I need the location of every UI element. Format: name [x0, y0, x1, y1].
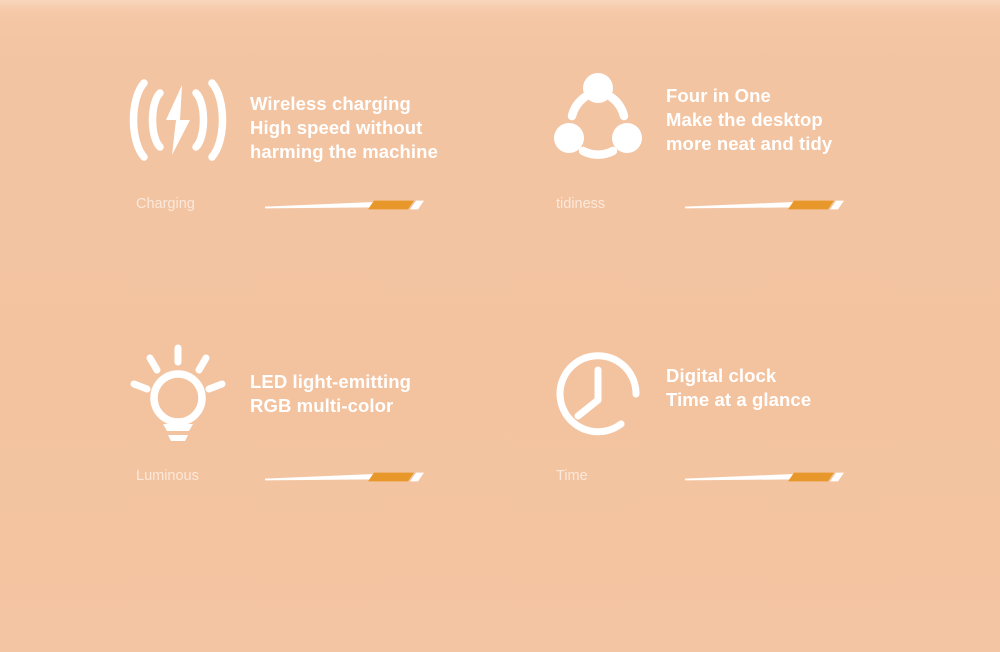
headline-group: Four in One Make the desktop more neat a… — [666, 84, 946, 156]
meter-row: Charging — [136, 192, 528, 218]
headline-line: RGB multi-color — [250, 394, 530, 418]
headline-group: Digital clock Time at a glance — [666, 364, 946, 412]
headline-group: LED light-emitting RGB multi-color — [250, 370, 530, 418]
meter-label: Charging — [136, 194, 195, 214]
meter-row: tidiness — [556, 192, 948, 218]
light-bulb-icon — [128, 344, 228, 444]
feature-card-digital-clock: Digital clock Time at a glance Time — [548, 342, 948, 532]
wireless-charging-icon — [128, 70, 228, 170]
progress-meter — [262, 464, 424, 488]
headline-line: Make the desktop — [666, 108, 946, 132]
four-in-one-share-icon — [548, 68, 648, 168]
meter-row: Luminous — [136, 464, 528, 490]
meter-label: Time — [556, 466, 588, 486]
progress-meter — [262, 192, 424, 216]
feature-panel: Wireless charging High speed without har… — [0, 0, 1000, 652]
headline-line: Wireless charging — [250, 92, 530, 116]
headline-line: Digital clock — [666, 364, 946, 388]
headline-group: Wireless charging High speed without har… — [250, 92, 530, 164]
feature-card-led-light: LED light-emitting RGB multi-color Lumin… — [128, 342, 528, 532]
headline-line: High speed without — [250, 116, 530, 140]
meter-label: tidiness — [556, 194, 605, 214]
progress-meter — [682, 464, 844, 488]
meter-label: Luminous — [136, 466, 199, 486]
headline-line: LED light-emitting — [250, 370, 530, 394]
progress-meter — [682, 192, 844, 216]
headline-line: Four in One — [666, 84, 946, 108]
headline-line: Time at a glance — [666, 388, 946, 412]
clock-icon — [548, 344, 648, 444]
meter-row: Time — [556, 464, 948, 490]
headline-line: harming the machine — [250, 140, 530, 164]
feature-card-four-in-one: Four in One Make the desktop more neat a… — [548, 70, 948, 260]
feature-card-wireless-charging: Wireless charging High speed without har… — [128, 70, 528, 260]
headline-line: more neat and tidy — [666, 132, 946, 156]
